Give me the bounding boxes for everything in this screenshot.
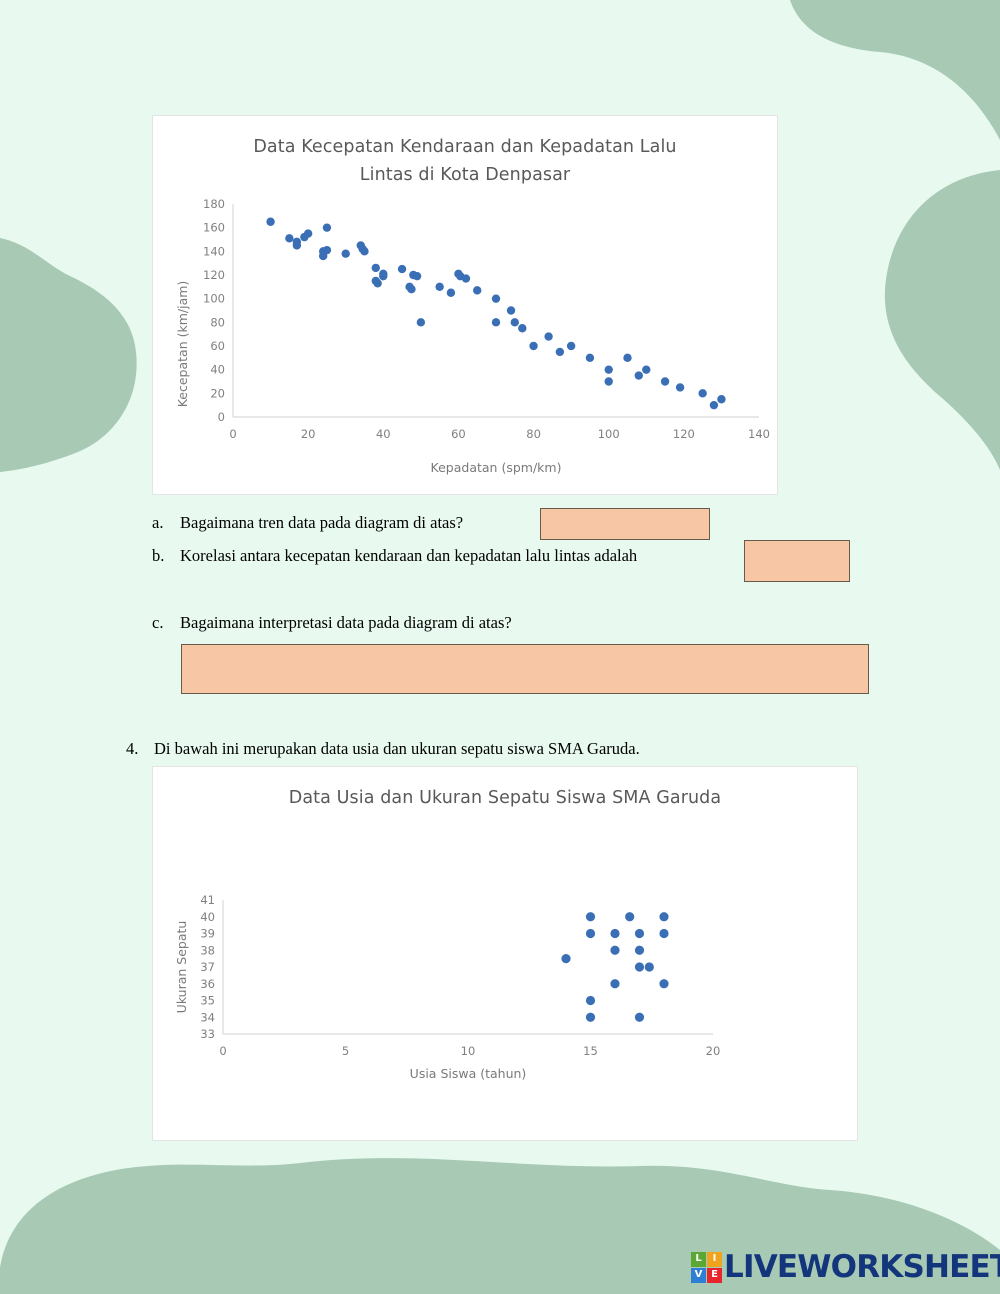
chart1-y-tick: 100 <box>203 292 225 306</box>
chart1-point <box>323 223 331 231</box>
chart1-point <box>507 306 515 314</box>
chart1-point <box>529 342 537 350</box>
chart1-point <box>717 395 725 403</box>
question-a-marker: a. <box>152 513 180 533</box>
answer-box-a[interactable] <box>540 508 710 540</box>
chart1-x-tick: 60 <box>451 427 466 441</box>
chart1-x-tick: 80 <box>526 427 541 441</box>
chart1-x-tick-labels: 020406080100120140 <box>229 427 770 441</box>
logo-tile-i: I <box>707 1252 722 1267</box>
question-b-marker: b. <box>152 546 180 566</box>
chart1-point <box>623 354 631 362</box>
chart1-point <box>417 318 425 326</box>
chart1-y-tick: 20 <box>210 386 225 400</box>
chart1-point <box>323 246 331 254</box>
chart2-data-points <box>561 912 668 1022</box>
question-4: 4.Di bawah ini merupakan data usia dan u… <box>126 739 640 759</box>
chart2-x-tick: 10 <box>461 1044 476 1058</box>
chart1-point <box>447 289 455 297</box>
chart2-x-tick-labels: 05101520 <box>219 1044 720 1058</box>
chart1-point <box>293 241 301 249</box>
chart2-y-tick: 34 <box>200 1010 215 1024</box>
chart1-y-tick: 80 <box>210 315 225 329</box>
chart2-point <box>586 929 595 938</box>
chart2-point <box>586 996 595 1005</box>
chart2-x-tick: 0 <box>219 1044 226 1058</box>
question-b-text: Korelasi antara kecepatan kendaraan dan … <box>180 546 637 565</box>
chart1-title: Data Kecepatan Kendaraan dan Kepadatan L… <box>153 116 777 189</box>
chart1-point <box>372 264 380 272</box>
chart1-x-axis-title: Kepadatan (spm/km) <box>431 460 562 475</box>
chart1-point <box>635 371 643 379</box>
chart1-y-tick: 180 <box>203 197 225 211</box>
chart2-point <box>610 946 619 955</box>
chart1-x-tick: 20 <box>301 427 316 441</box>
chart2-x-axis-title: Usia Siswa (tahun) <box>410 1066 527 1081</box>
logo-tile-l: L <box>691 1252 706 1267</box>
chart2-point <box>645 962 654 971</box>
chart1-y-axis-title: Kecepatan (km/jam) <box>175 281 190 408</box>
chart2-point <box>586 1013 595 1022</box>
chart1-point <box>379 272 387 280</box>
chart1-point <box>360 247 368 255</box>
chart1-x-tick: 100 <box>598 427 620 441</box>
chart2-point <box>635 929 644 938</box>
question-b: b.Korelasi antara kecepatan kendaraan da… <box>152 546 637 566</box>
chart1-y-tick: 0 <box>218 410 225 424</box>
chart1-point <box>518 324 526 332</box>
chart1-point <box>642 365 650 373</box>
chart1-point <box>710 401 718 409</box>
question-c: c.Bagaimana interpretasi data pada diagr… <box>152 613 512 633</box>
chart2-y-tick: 40 <box>200 910 215 924</box>
chart2-point <box>625 912 634 921</box>
chart1-point <box>398 265 406 273</box>
chart1-point <box>567 342 575 350</box>
chart1-point <box>407 285 415 293</box>
chart2-y-tick: 36 <box>200 977 215 991</box>
chart1-point <box>676 383 684 391</box>
chart1-point <box>492 318 500 326</box>
chart2-title: Data Usia dan Ukuran Sepatu Siswa SMA Ga… <box>153 767 857 812</box>
chart1-point <box>586 354 594 362</box>
chart1-point <box>304 229 312 237</box>
chart1-y-tick: 60 <box>210 339 225 353</box>
chart1-point <box>473 286 481 294</box>
chart1-point <box>544 332 552 340</box>
chart1-x-tick: 40 <box>376 427 391 441</box>
chart1-point <box>413 272 421 280</box>
question-c-marker: c. <box>152 613 180 633</box>
chart2-point <box>610 929 619 938</box>
chart1-data-points <box>266 218 725 410</box>
liveworksheets-logo: L I V E LIVEWORKSHEETS <box>691 1247 1000 1287</box>
chart1-y-tick: 160 <box>203 221 225 235</box>
chart2-point <box>635 946 644 955</box>
chart2-y-tick: 41 <box>200 893 215 907</box>
chart2-point <box>610 979 619 988</box>
chart1-point <box>605 377 613 385</box>
chart1-x-tick: 0 <box>229 427 236 441</box>
chart1-y-tick-labels: 020406080100120140160180 <box>203 197 225 424</box>
question-a-text: Bagaimana tren data pada diagram di atas… <box>180 513 463 532</box>
chart1-point <box>698 389 706 397</box>
chart2-point <box>659 979 668 988</box>
answer-box-c[interactable] <box>181 644 869 694</box>
chart2-point <box>659 929 668 938</box>
chart2-point <box>659 912 668 921</box>
chart-card-kecepatan: Data Kecepatan Kendaraan dan Kepadatan L… <box>152 115 778 495</box>
question-4-marker: 4. <box>126 739 154 759</box>
chart2-y-axis-title: Ukuran Sepatu <box>174 921 189 1014</box>
chart1-plot-area: Kecepatan (km/jam) 020406080100120140160… <box>153 189 779 489</box>
chart1-point <box>373 279 381 287</box>
chart2-y-tick-labels: 333435363738394041 <box>200 893 215 1041</box>
chart1-point <box>435 283 443 291</box>
chart2-x-tick: 5 <box>342 1044 349 1058</box>
chart2-x-tick: 20 <box>706 1044 721 1058</box>
liveworksheets-wordmark: LIVEWORKSHEETS <box>724 1249 1000 1285</box>
chart2-point <box>635 1013 644 1022</box>
liveworksheets-logo-tiles: L I V E <box>691 1252 722 1283</box>
chart1-y-tick: 120 <box>203 268 225 282</box>
answer-box-b[interactable] <box>744 540 850 582</box>
chart1-point <box>661 377 669 385</box>
chart1-point <box>342 250 350 258</box>
question-4-text: Di bawah ini merupakan data usia dan uku… <box>154 739 640 758</box>
chart2-point <box>586 912 595 921</box>
chart2-y-tick: 37 <box>200 960 215 974</box>
chart2-y-tick: 35 <box>200 994 215 1008</box>
logo-tile-e: E <box>707 1268 722 1283</box>
chart2-y-tick: 38 <box>200 943 215 957</box>
question-c-text: Bagaimana interpretasi data pada diagram… <box>180 613 512 632</box>
chart-card-ukuran-sepatu: Data Usia dan Ukuran Sepatu Siswa SMA Ga… <box>152 766 858 1141</box>
chart2-point <box>561 954 570 963</box>
chart2-point <box>635 962 644 971</box>
chart2-x-tick: 15 <box>583 1044 598 1058</box>
chart1-point <box>605 365 613 373</box>
chart1-y-tick: 40 <box>210 363 225 377</box>
chart1-x-tick: 120 <box>673 427 695 441</box>
chart1-point <box>462 274 470 282</box>
chart1-point <box>556 348 564 356</box>
chart1-point <box>285 234 293 242</box>
chart1-point <box>511 318 519 326</box>
chart1-y-tick: 140 <box>203 244 225 258</box>
chart2-y-tick: 39 <box>200 927 215 941</box>
chart1-point <box>492 294 500 302</box>
chart1-x-tick: 140 <box>748 427 770 441</box>
question-a: a.Bagaimana tren data pada diagram di at… <box>152 513 463 533</box>
chart1-point <box>266 218 274 226</box>
chart2-plot-area: Ukuran Sepatu 333435363738394041 0510152… <box>153 812 859 1117</box>
chart2-y-tick: 33 <box>200 1027 215 1041</box>
logo-tile-v: V <box>691 1268 706 1283</box>
